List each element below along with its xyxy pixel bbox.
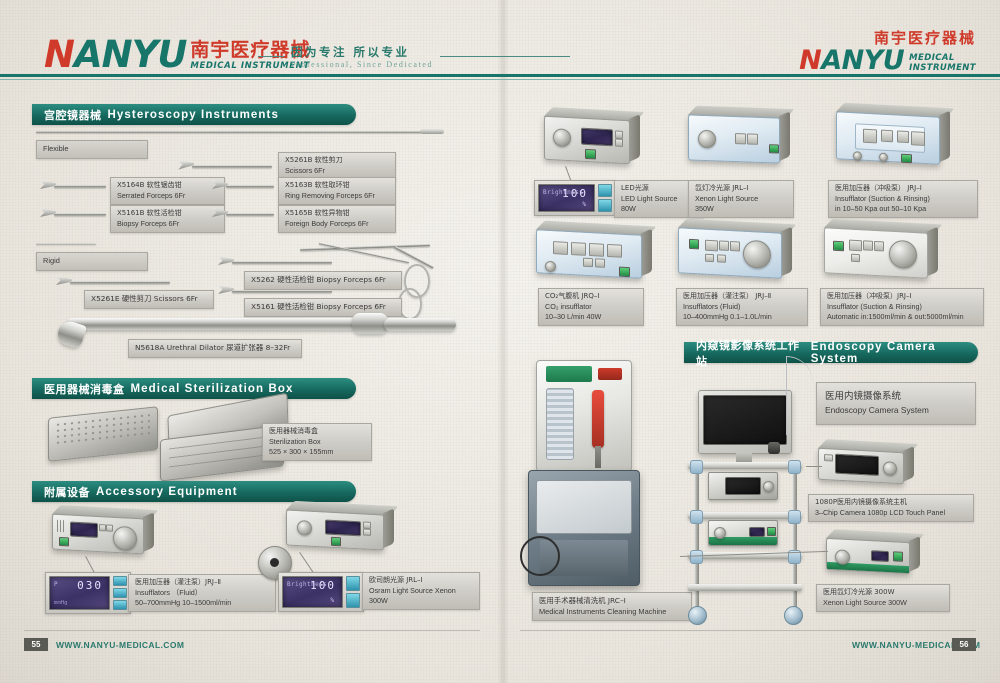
page-header: NANYU 南宇医疗器械 MEDICAL INSTRUMENT 因为专注 所以专… [0,0,1000,86]
trolley-shelf-1 [688,462,802,469]
device-led-light-source [544,116,630,165]
readout-led-key-down[interactable] [598,199,612,212]
instrument-label-n5618a: N5618A Urethral Dilator 尿道扩张器 8–32Fr [128,339,302,358]
device-ins2-face [678,227,782,278]
accessory-label-0-spec: 50–700mmHg 10–1500ml/min [135,598,269,608]
device-xenon-key-2[interactable] [747,133,758,144]
catalog-spread: NANYU 南宇医疗器械 MEDICAL INSTRUMENT 因为专注 所以专… [0,0,1000,683]
sterilization-box-cn: 医用器械消毒盒 [269,427,365,437]
brand-right-n: N [799,45,821,76]
instrument-label-x5161b-cn: X5161B 软性活检钳 [117,209,218,219]
brand-logo-right: 南宇医疗器械 NANYU MEDICAL INSTRUMENT [799,30,976,74]
equipment-r1-0-spec: 80W [621,204,697,214]
readout-key-down[interactable] [113,600,127,610]
trolley-light-source-power[interactable] [767,527,776,536]
device-co2-power[interactable] [619,267,630,278]
device-ins1-power[interactable] [901,154,912,164]
device-xenon300-light-port[interactable] [835,549,850,565]
device-ins1-side [939,111,950,163]
device-osram-lcd [325,519,361,536]
readout-lcd-unit: mmHg [54,600,67,606]
instrument-shaft-rigid-biopsy-2 [232,290,332,293]
accessory-label-1-en: Osram Light Source Xenon [369,586,473,596]
accessory-label-osram: 欧司朗光源 JRL–Ⅰ Osram Light Source Xenon 300… [362,572,480,610]
header-rule-thin [0,79,1000,80]
device-button-2[interactable] [106,524,113,531]
device-ins1-display-1 [863,129,877,144]
equipment-r2-2-cn: 医用加压器（冲吸泵）JRJ–Ⅰ [827,292,977,302]
instrument-label-x5163b: X5163B 软性取环钳 Ring Removing Forceps 6Fr [278,177,396,205]
section-camera-en: Endoscopy Camera System [811,341,978,365]
section-accessory-cn: 附属设备 [44,484,90,500]
camera-system-main-label: 医用内镜摄像系统 Endoscopy Camera System [816,382,976,425]
sterilization-box-size: 525 × 300 × 155mm [269,447,365,457]
hysteroscope-connector [420,129,444,134]
device-insufflator-fluid-2 [678,227,782,278]
hysteroscope-shaft [36,131,422,133]
device-ccu-face [818,448,904,485]
device-xenon-key-1[interactable] [735,133,746,144]
instrument-label-x5261e-text: X5261E 硬性剪刀 Scissors 6Fr [91,294,207,305]
device-ins3-side [927,227,938,277]
device-xenon300-side [909,536,920,572]
device-lcd-screen [70,522,98,538]
device-ins3-face [824,227,928,278]
accessory-label-insufflator-fluid: 医用加压器（灌注泵）JRJ–Ⅱ Insufflators （Fluid） 50–… [128,574,276,612]
instrument-shaft-scissors [192,165,272,168]
brand-wordmark: NANYU [44,36,186,73]
camera-system-light-cn: 医用氙灯冷光源 300W [823,588,943,598]
device-ins2-roller-pump[interactable] [743,240,771,269]
device-ins1-body [836,111,940,164]
section-sterilization-en: Medical Sterilization Box [131,383,294,395]
page-number-right: 56 [952,638,976,651]
trolley-caster-right [784,606,803,625]
device-ins1-face [836,111,940,164]
footer-rule-left [24,630,480,631]
device-ins3-key-1[interactable] [863,240,873,251]
equipment-r2-0-spec: 10–30 L/min 40W [545,312,637,322]
equipment-label-insufflator-1: 医用加压器（冲吸泵） JRJ–Ⅰ Insufflator (Suction & … [828,180,978,218]
sterilization-box-perforation [56,413,150,446]
instrument-label-x5161b: X5161B 软性活检钳 Biopsy Forceps 6Fr [110,205,225,233]
device-vent [57,520,66,532]
device-xenon-side [779,111,790,161]
brand-wordmark-rest: ANYU [74,33,186,76]
instrument-shaft-foreign [226,213,274,216]
cleaning-machine-brandplate [546,366,592,382]
device-led-body [544,116,630,165]
device-ins2-key-2[interactable] [730,241,740,252]
trolley-shelf-2 [688,512,802,519]
rigid-scope-shaft [300,244,430,252]
equipment-r2-1-spec: 10–400mmHg 0.1–1.0L/min [683,312,801,322]
device-ins3-indicator [833,241,844,252]
sterilization-box-closed [48,406,158,462]
instrument-label-x5164b: X5164B 软性锯齿钳 Serrated Forceps 6Fr [110,177,225,205]
equipment-label-xenon: 氙灯冷光源 JRL–Ⅰ Xenon Light Source 350W [688,180,794,218]
section-sterilization-cn: 医用器械消毒盒 [44,381,125,397]
trolley-clamp-3 [690,510,703,524]
light-guide-aperture [270,558,279,567]
device-ins2-display [705,240,718,252]
equipment-r1-1-en: Xenon Light Source [695,194,787,204]
equipment-r1-2-spec: in 10–50 Kpa out 50–10 Kpa [835,204,971,214]
instrument-label-x5165b-cn: X5165B 软性异物钳 [285,209,389,219]
instrument-shaft-biopsy-flex [54,213,106,216]
device-ccu-key[interactable] [824,454,833,461]
readout-lcd-value: 030 [77,579,103,592]
tagline-cn: 因为专注 所以专业 [291,44,433,60]
urethral-dilator-collar [352,313,388,334]
device-co2-display-2 [571,242,586,256]
leader-ccu [806,466,822,467]
camera-system-light-label: 医用氙灯冷光源 300W Xenon Light Source 300W [816,584,950,612]
instrument-shaft-serrated [54,185,106,188]
device-ins2-body [678,227,782,278]
monitor-screen [703,395,787,445]
instrument-label-x5163b-cn: X5163B 软性取环钳 [285,181,389,191]
footer-rule-right [520,630,976,631]
instrument-label-x5165b-en: Foreign Body Forceps 6Fr [285,219,389,229]
readout-osram-value: 100 [310,579,336,592]
device-ins2-indicator [689,239,699,250]
equipment-r2-0-cn: CO₂气腹机 JRQ–Ⅰ [545,292,637,302]
instrument-label-x5262-text: X5262 硬性活检钳 Biopsy Forceps 6Fr [251,275,395,286]
tagline-rule-right [440,56,570,57]
instrument-label-x5165b: X5165B 软性异物钳 Foreign Body Forceps 6Fr [278,205,396,233]
group-label-flexible: Flexible [36,140,148,159]
equipment-r1-0-cn: LED光源 [621,184,697,194]
device-osram-side [383,508,394,548]
device-osram-face [286,509,384,550]
trolley-ccu-connector[interactable] [763,481,774,492]
page-number-left: 55 [24,638,48,651]
section-hysteroscopy-en: Hysteroscopy Instruments [108,109,279,121]
equipment-label-insufflator-auto: 医用加压器（冲吸泵）JRJ–Ⅰ Insufflator (Suction & R… [820,288,984,326]
cleaning-machine-cn: 医用手术器械清洗机 JRC–Ⅰ [539,596,685,607]
footer-url-left: WWW.NANYU-MEDICAL.COM [56,640,184,650]
instrument-shaft-ring [226,185,274,188]
urethral-dilator-handle [384,318,456,331]
readout-led: Brightness 100 % [534,180,616,216]
readout-led-value: 100 [562,187,588,200]
section-banner-accessory: 附属设备 Accessory Equipment [32,481,356,502]
cleaning-machine-door[interactable] [536,480,632,534]
camera-head-coupler [768,442,780,454]
readout-osram-key-down[interactable] [346,593,360,608]
brand-right-rest: ANYU [821,45,904,76]
device-osram-key-down[interactable] [363,528,371,535]
device-co2-display-4 [607,244,622,258]
camera-system-light-en: Xenon Light Source 300W [823,598,943,608]
device-ins1-key-2[interactable] [897,130,909,143]
device-ins2-side [781,227,792,277]
accessory-label-0-cn: 医用加压器（灌注泵）JRJ–Ⅱ [135,578,269,588]
trolley-clamp-1 [690,460,703,474]
device-side-panel [143,512,154,552]
device-xenon-light-port[interactable] [698,130,716,149]
device-co2-display-3 [589,243,604,257]
sterilization-box-label: 医用器械消毒盒 Sterilization Box 525 × 300 × 15… [262,423,372,461]
cleaning-machine-hose-coil [546,388,574,460]
equipment-label-co2: CO₂气腹机 JRQ–Ⅰ CO₂ insufflator 10–30 L/min… [538,288,644,326]
readout-osram-key-up[interactable] [346,576,360,591]
device-button-1[interactable] [99,524,106,531]
device-front-face [52,514,144,555]
device-led-lcd [581,128,613,147]
device-osram-light-port[interactable] [297,520,312,536]
cleaning-machine-gun-nozzle [595,446,601,468]
device-osram-body [286,509,384,550]
readout-keys[interactable] [113,576,127,610]
equipment-r1-1-spec: 350W [695,204,787,214]
device-co2-insufflator [536,229,642,279]
readout-led-lcd: Brightness 100 % [538,184,595,212]
readout-lcd: P 030 mmHg [49,576,110,610]
device-ins3-body [824,227,928,278]
device-ins3-key-3[interactable] [851,254,860,262]
section-hysteroscopy-cn: 宫腔镜器械 [44,107,102,123]
instrument-label-x5261b-cn: X5261B 软性剪刀 [285,156,389,166]
readout-osram-keys[interactable] [346,576,360,608]
instrument-label-x5163b-en: Ring Removing Forceps 6Fr [285,191,389,201]
device-ccu-1080p [818,448,904,485]
cleaning-machine-spray-gun [592,390,604,448]
device-led-side [629,114,640,162]
trolley-clamp-5 [690,550,703,564]
accessory-label-1-cn: 欧司朗光源 JRL–Ⅰ [369,576,473,586]
cleaning-machine-upper-unit [536,360,632,472]
brand-tagline: 因为专注 所以专业 Professional, Since Dedicated [258,44,570,69]
brand-right-wordmark: NANYU [799,47,904,74]
instrument-label-x5261e: X5261E 硬性剪刀 Scissors 6Fr [84,290,214,309]
instrument-label-x5261b-en: Scissors 6Fr [285,166,389,176]
trolley-ccu-screen [725,477,761,495]
rigid-group-rule [36,243,96,245]
device-ccu-body [818,448,904,485]
readout-osram: Brightness 100 % [278,572,364,612]
readout-insufflator-fluid: P 030 mmHg [45,572,131,614]
device-co2-face [536,229,642,279]
device-xenon300-power[interactable] [893,551,903,562]
brand-right-en2: INSTRUMENT [909,64,976,74]
device-led-face [544,116,630,165]
camera-system-ccu-label: 1080P医用内镜摄像系统主机 3–Chip Camera 1080p LCD … [808,494,974,522]
cleaning-machine-emergency-stop [598,368,622,380]
brand-right-en: MEDICAL INSTRUMENT [909,54,976,74]
brand-wordmark-n: N [44,33,74,76]
device-ins3-key-2[interactable] [874,241,884,252]
group-label-rigid: Rigid [36,252,148,271]
device-ins2-key-3[interactable] [705,254,714,262]
urethral-dilator-body [66,318,356,330]
section-banner-sterilization: 医用器械消毒盒 Medical Sterilization Box [32,378,356,399]
device-ccu-touch-panel[interactable] [835,454,879,476]
trolley-shelf-4 [688,584,802,591]
device-ins2-key-1[interactable] [719,240,729,251]
device-xenon300-face [826,538,910,574]
accessory-label-1-spec: 300W [369,596,473,606]
cleaning-machine-en: Medical Instruments Cleaning Machine [539,607,685,618]
device-power-button[interactable] [59,537,69,547]
instrument-shaft-rigid-biopsy-1 [232,261,332,264]
readout-led-key-up[interactable] [598,184,612,197]
readout-led-unit: % [582,201,586,208]
equipment-r2-1-en: Insufflators (Fluid) [683,302,801,312]
cleaning-machine-label: 医用手术器械清洗机 JRC–Ⅰ Medical Instruments Clea… [532,592,692,621]
device-insufflator-auto [824,227,928,278]
tagline-text: 因为专注 所以专业 Professional, Since Dedicated [291,44,433,69]
camera-system-main-cn: 医用内镜摄像系统 [825,390,967,404]
readout-osram-unit: % [330,597,334,604]
accessory-label-0-en: Insufflators （Fluid） [135,588,269,598]
equipment-r1-0-en: LED Light Source [621,194,697,204]
instrument-label-x5262: X5262 硬性活检钳 Biopsy Forceps 6Fr [244,271,402,290]
device-co2-key-2[interactable] [595,258,605,268]
readout-key-up[interactable] [113,576,127,586]
equipment-r2-2-spec: Automatic in:1500ml/min & out:5000ml/min [827,312,977,322]
trolley-ccu-unit [708,472,778,500]
tagline-rule-left [258,56,284,57]
group-label-flexible-text: Flexible [43,144,141,155]
readout-key-mid[interactable] [113,588,127,598]
cleaning-machine-drain-hose [520,536,560,576]
device-xenon-power[interactable] [769,144,779,153]
device-co2-display-1 [553,241,568,255]
trolley-light-source-display [749,527,765,537]
device-osram-power[interactable] [331,537,341,547]
equipment-r1-2-en: Insufflator (Suction & Rinsing) [835,194,971,204]
sterilization-box-en: Sterilization Box [269,437,365,447]
device-ins1-port-1[interactable] [853,151,862,160]
trolley-light-source-port[interactable] [714,527,726,539]
device-co2-key-1[interactable] [583,258,593,268]
group-label-rigid-text: Rigid [43,256,141,267]
device-xenon-body [688,114,780,163]
equipment-r1-1-cn: 氙灯冷光源 JRL–Ⅰ [695,184,787,194]
device-xenon-light-source [688,114,780,163]
page-gutter [497,0,509,683]
camera-system-ccu-en: 3–Chip Camera 1080p LCD Touch Panel [815,508,967,518]
device-ins1-port-2[interactable] [879,153,888,162]
device-ins1-display-2 [911,131,925,146]
instrument-label-n5618a-text: N5618A Urethral Dilator 尿道扩张器 8–32Fr [135,343,295,354]
header-rule-thick [0,74,1000,77]
section-banner-hysteroscopy: 宫腔镜器械 Hysteroscopy Instruments [32,104,356,125]
equipment-label-insufflator-fluid-2: 医用加压器（灌注泵） JRJ–Ⅱ Insufflators (Fluid) 10… [676,288,808,326]
sterilization-box-dividers [169,430,275,467]
readout-led-keys[interactable] [598,184,612,212]
device-co2-gas-port[interactable] [545,261,556,273]
tagline-en: Professional, Since Dedicated [291,60,433,69]
device-insufflator-fluid [52,514,144,555]
instrument-label-x5161b-en: Biopsy Forceps 6Fr [117,219,218,229]
trolley-caster-left [688,606,707,625]
trolley-light-source-unit [708,520,778,546]
instrument-label-x5164b-en: Serrated Forceps 6Fr [117,191,218,201]
section-banner-camera-system: 内窥镜影像系统工作站 Endoscopy Camera System [684,342,978,363]
equipment-r1-2-cn: 医用加压器（冲吸泵） JRJ–Ⅰ [835,184,971,194]
device-roller-pump[interactable] [113,526,137,551]
brand-right-row: NANYU MEDICAL INSTRUMENT [799,47,976,74]
instrument-label-x5161-text: X5161 硬性活检钳 Biopsy Forceps 6Fr [251,302,395,313]
trolley-clamp-2 [788,460,801,474]
device-ins1-key-1[interactable] [881,130,893,143]
camera-system-ccu-cn: 1080P医用内镜摄像系统主机 [815,498,967,508]
device-co2-body [536,229,642,279]
device-led-light-port[interactable] [553,128,571,147]
instrument-label-x5261b: X5261B 软性剪刀 Scissors 6Fr [278,152,396,180]
device-ins3-display [849,240,862,252]
device-xenon-face [688,114,780,163]
device-co2-side [641,229,652,277]
device-insufflator-fluid-body [52,514,144,555]
instrument-shaft-rigid-scissors [70,281,170,284]
device-xenon-300w [826,538,910,574]
camera-system-main-en: Endoscopy Camera System [825,404,967,417]
readout-osram-lcd: Brightness 100 % [282,576,343,608]
device-ccu-side [903,446,914,482]
device-ins2-key-4[interactable] [717,254,726,262]
section-accessory-en: Accessory Equipment [96,486,238,498]
camera-head-cable [786,356,813,435]
instrument-label-x5164b-cn: X5164B 软性锯齿钳 [117,181,218,191]
device-ins3-roller-pump[interactable] [889,240,917,269]
trolley-clamp-4 [788,510,801,524]
endoscopy-trolley [688,460,808,620]
device-xenon300-body [826,538,910,574]
device-led-key-down[interactable] [615,138,623,146]
readout-lcd-label: P [54,581,58,588]
device-osram-light-source [286,509,384,550]
device-ccu-camera-port[interactable] [883,461,897,476]
device-led-power[interactable] [585,149,596,160]
equipment-r2-1-cn: 医用加压器（灌注泵） JRJ–Ⅱ [683,292,801,302]
device-insufflator-suction-1 [836,111,940,164]
device-xenon300-display [871,550,889,562]
equipment-r2-2-en: Insufflator (Suction & Rinsing) [827,302,977,312]
equipment-r2-0-en: CO₂ insufflator [545,302,637,312]
